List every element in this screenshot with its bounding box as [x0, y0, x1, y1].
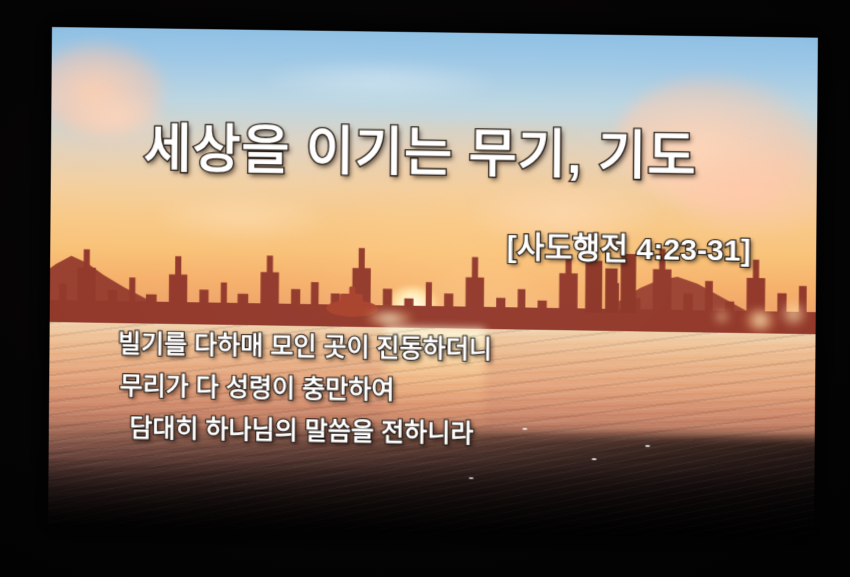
verse-line: 빌기를 다하매 모인 곳이 진동하더니	[118, 323, 492, 371]
screenshot-stage: 세상을 이기는 무기, 기도 [사도행전 4:23-31] 빌기를 다하매 모인…	[0, 0, 850, 577]
slide-title: 세상을 이기는 무기, 기도	[51, 104, 791, 190]
projected-screen: 세상을 이기는 무기, 기도 [사도행전 4:23-31] 빌기를 다하매 모인…	[48, 27, 818, 540]
presentation-slide: 세상을 이기는 무기, 기도 [사도행전 4:23-31] 빌기를 다하매 모인…	[48, 27, 818, 540]
water-glint	[469, 477, 474, 479]
verse-line: 무리가 다 성령이 충만하여	[118, 365, 492, 413]
verse-line: 담대히 하나님의 말씀을 전하니라	[117, 407, 491, 455]
scripture-verse-block: 빌기를 다하매 모인 곳이 진동하더니 무리가 다 성령이 충만하여 담대히 하…	[117, 323, 492, 455]
water-glint	[645, 445, 650, 447]
scripture-reference: [사도행전 4:23-31]	[507, 221, 751, 269]
